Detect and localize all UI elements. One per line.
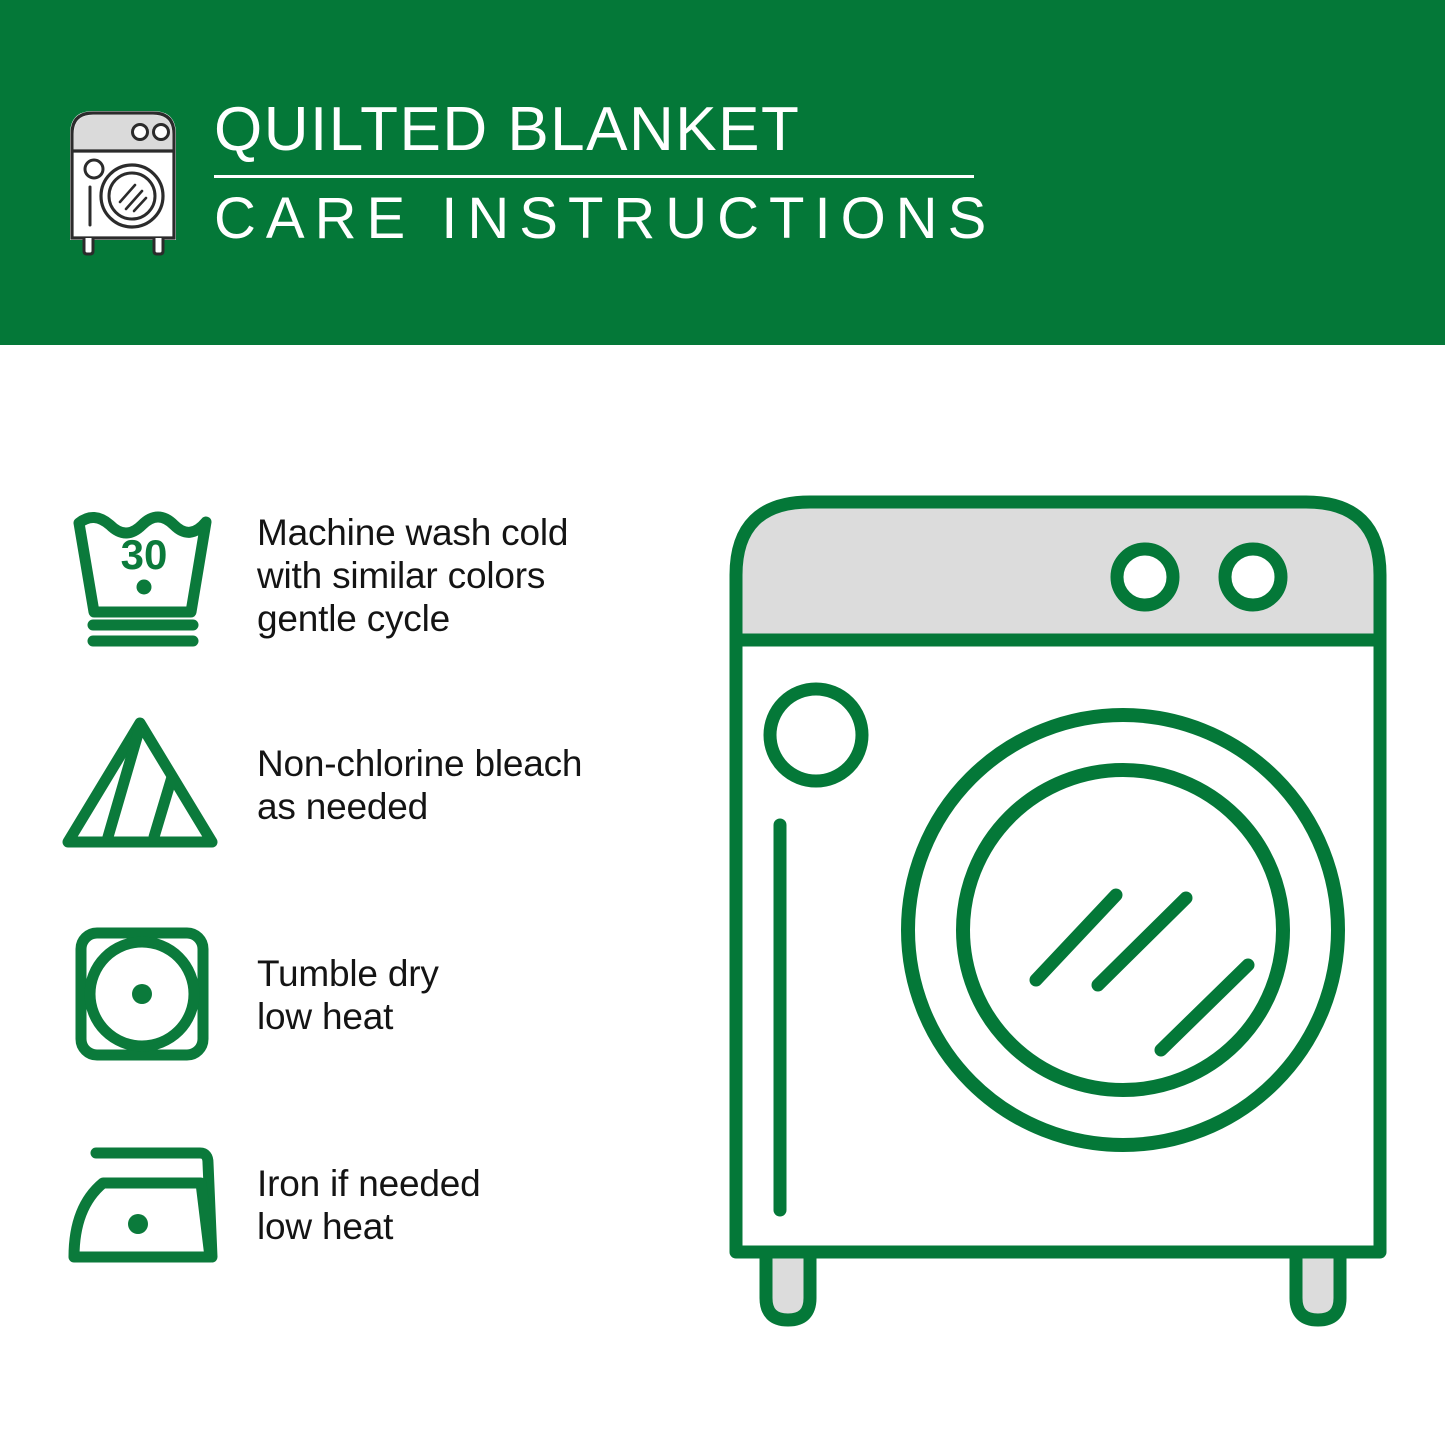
care-instruction-list: 30 Machine wash cold with similar colors… [60,470,700,1310]
care-label-bleach: Non-chlorine bleach as needed [257,742,582,828]
page-title: QUILTED BLANKET [214,97,996,163]
care-line-1: Non-chlorine bleach [257,742,582,785]
bleach-triangle-icon [60,700,235,870]
care-line-2: as needed [257,785,582,828]
iron-icon [60,1120,235,1290]
care-line-2: low heat [257,995,439,1038]
care-line-2: with similar colors [257,554,568,597]
care-line-2: low heat [257,1205,480,1248]
door-inner-ring [963,770,1283,1090]
page-subtitle: CARE INSTRUCTIONS [214,188,996,250]
care-instructions-page: QUILTED BLANKET CARE INSTRUCTIONS 30 [0,0,1445,1445]
detergent-dispenser-circle [770,689,862,781]
knob-right [1225,549,1281,605]
care-row-iron: Iron if needed low heat [60,1100,700,1310]
svg-text:30: 30 [121,531,168,578]
care-line-1: Tumble dry [257,952,439,995]
wash-tub-30-icon: 30 [60,490,235,660]
washing-machine-icon [62,101,184,256]
header-content: QUILTED BLANKET CARE INSTRUCTIONS [62,95,996,256]
care-line-1: Iron if needed [257,1162,480,1205]
care-line-1: Machine wash cold [257,511,568,554]
tumble-dry-icon [60,910,235,1080]
title-divider [214,175,974,178]
care-row-tumble-dry: Tumble dry low heat [60,890,700,1100]
care-label-machine-wash: Machine wash cold with similar colors ge… [257,511,568,640]
care-label-tumble-dry: Tumble dry low heat [257,952,439,1038]
care-line-3: gentle cycle [257,597,568,640]
care-label-iron: Iron if needed low heat [257,1162,480,1248]
washing-machine-illustration [718,480,1398,1360]
care-row-machine-wash: 30 Machine wash cold with similar colors… [60,470,700,680]
care-row-bleach: Non-chlorine bleach as needed [60,680,700,890]
header-banner: QUILTED BLANKET CARE INSTRUCTIONS [0,0,1445,345]
header-titles: QUILTED BLANKET CARE INSTRUCTIONS [214,95,996,250]
knob-left [1117,549,1173,605]
